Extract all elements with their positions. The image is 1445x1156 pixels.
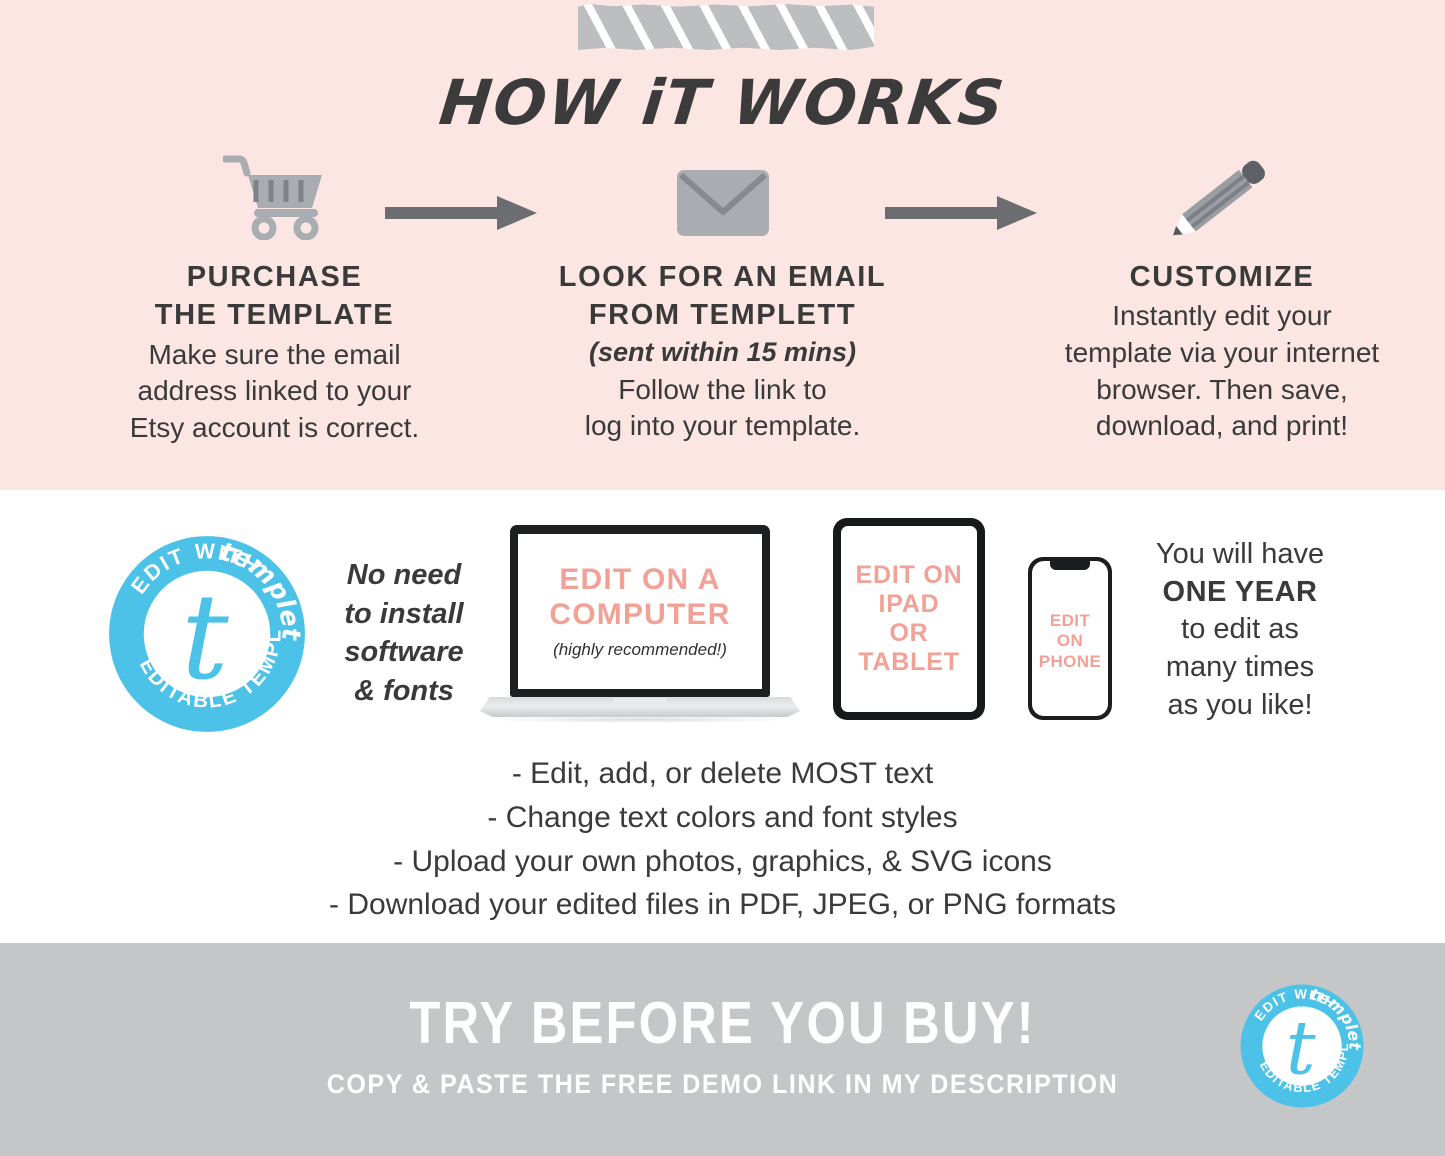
washi-tape-icon xyxy=(578,4,874,50)
laptop-screen-note: (highly recommended!) xyxy=(553,640,727,660)
laptop-lid: EDIT ON A COMPUTER (highly recommended!) xyxy=(510,525,770,697)
footer-title: TRY BEFORE YOU BUY! xyxy=(101,989,1344,1057)
tablet-icon: EDIT ON IPAD OR TABLET xyxy=(833,518,985,720)
templett-badge-icon: EDIT WITH templett EDITABLE TEMPLATE t xyxy=(105,532,309,736)
badge-letter: t xyxy=(181,568,229,706)
one-year-text: You will have ONE YEAR to edit as many t… xyxy=(1120,536,1360,724)
step-purchase-body: Make sure the email address linked to yo… xyxy=(92,337,457,447)
footer-band: TRY BEFORE YOU BUY! COPY & PASTE THE FRE… xyxy=(0,943,1445,1156)
step-customize-heading: CUSTOMIZE xyxy=(1022,258,1422,296)
footer-subtitle: COPY & PASTE THE FREE DEMO LINK IN MY DE… xyxy=(51,1069,1395,1100)
laptop-screen-title: EDIT ON A COMPUTER xyxy=(549,563,730,633)
one-year-line-4: many times xyxy=(1120,649,1360,687)
tablet-screen: EDIT ON IPAD OR TABLET xyxy=(841,526,977,712)
step-purchase-heading: PURCHASE THE TEMPLATE xyxy=(92,258,457,335)
laptop-shadow xyxy=(494,716,786,723)
step-customize: CUSTOMIZE Instantly edit your template v… xyxy=(1022,148,1422,445)
envelope-icon-wrap xyxy=(515,148,930,240)
phone-notch xyxy=(1050,561,1090,570)
pencil-icon-wrap xyxy=(1022,148,1422,240)
laptop-screen: EDIT ON A COMPUTER (highly recommended!) xyxy=(518,534,762,689)
page-title: HOW iT WORKS xyxy=(0,66,1445,139)
list-item: - Download your edited files in PDF, JPE… xyxy=(0,883,1445,927)
phone-screen: EDIT ON PHONE xyxy=(1032,561,1108,716)
step-email-heading: LOOK FOR AN EMAIL FROM TEMPLETT xyxy=(515,258,930,335)
pencil-icon xyxy=(1168,154,1276,240)
one-year-line-1: You will have xyxy=(1120,536,1360,574)
laptop-icon: EDIT ON A COMPUTER (highly recommended!) xyxy=(480,525,800,730)
step-purchase: PURCHASE THE TEMPLATE Make sure the emai… xyxy=(92,148,457,447)
step-customize-body: Instantly edit your template via your in… xyxy=(1022,298,1422,445)
one-year-highlight: ONE YEAR xyxy=(1120,574,1360,612)
step-email-note: (sent within 15 mins) xyxy=(515,335,930,370)
phone-screen-title: EDIT ON PHONE xyxy=(1039,611,1101,672)
templett-badge-icon: EDIT WITH templett EDITABLE TEMPLATE t xyxy=(1238,982,1366,1110)
list-item: - Change text colors and font styles xyxy=(0,796,1445,840)
laptop-trackpad-notch xyxy=(613,698,667,705)
feature-list: - Edit, add, or delete MOST text - Chang… xyxy=(0,752,1445,927)
list-item: - Upload your own photos, graphics, & SV… xyxy=(0,840,1445,884)
envelope-icon xyxy=(674,164,772,240)
one-year-line-3: to edit as xyxy=(1120,611,1360,649)
no-install-text: No need to install software & fonts xyxy=(330,556,478,710)
one-year-line-5: as you like! xyxy=(1120,687,1360,725)
badge-letter: t xyxy=(1286,1005,1316,1092)
shopping-cart-icon xyxy=(223,154,327,240)
step-email-body: Follow the link to log into your templat… xyxy=(515,372,930,445)
arrow-right-icon xyxy=(885,196,1037,230)
list-item: - Edit, add, or delete MOST text xyxy=(0,752,1445,796)
tablet-screen-title: EDIT ON IPAD OR TABLET xyxy=(856,561,963,678)
tablet-body: EDIT ON IPAD OR TABLET xyxy=(833,518,985,720)
step-email: LOOK FOR AN EMAIL FROM TEMPLETT (sent wi… xyxy=(515,148,930,445)
phone-body: EDIT ON PHONE xyxy=(1028,557,1112,720)
phone-icon: EDIT ON PHONE xyxy=(1028,557,1112,720)
